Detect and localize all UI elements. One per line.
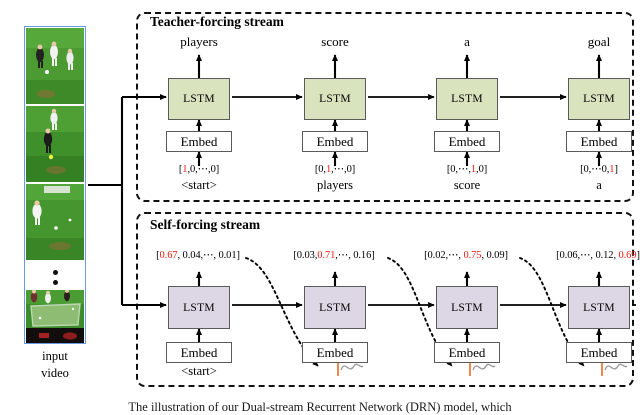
tf-input-word-4: a	[596, 178, 602, 193]
self-forcing-title: Self-forcing stream	[150, 217, 260, 233]
tf-lstm-cell-1: LSTM	[168, 78, 230, 120]
video-frame-4	[26, 290, 84, 343]
tf-input-word-2: players	[317, 178, 353, 193]
tf-lstm-label-3: LSTM	[451, 93, 483, 105]
tf-lstm-cell-4: LSTM	[568, 78, 630, 120]
sf-prob-vector-1: [0.67, 0.04,⋯, 0.01]	[156, 249, 240, 261]
tf-embed-box-2: Embed	[302, 131, 368, 152]
sf-embed-label-2: Embed	[317, 345, 354, 361]
tf-lstm-label-4: LSTM	[583, 93, 615, 105]
sf-lstm-cell-2: LSTM	[304, 286, 366, 329]
tf-embed-box-3: Embed	[434, 131, 500, 152]
video-frame-2	[26, 106, 84, 182]
sf-embed-label-1: Embed	[181, 345, 218, 361]
sf-lstm-cell-3: LSTM	[436, 286, 498, 329]
tf-embed-label-3: Embed	[449, 134, 486, 150]
tf-onehot-vector-3: [0,⋯,1,0]	[447, 163, 487, 175]
tf-lstm-cell-3: LSTM	[436, 78, 498, 120]
sf-input-word-1: <start>	[181, 364, 217, 379]
sf-embed-label-4: Embed	[581, 345, 618, 361]
tf-embed-label-1: Embed	[181, 134, 218, 150]
tf-lstm-label-1: LSTM	[183, 93, 215, 105]
figure-caption: The illustration of our Dual-stream Recu…	[128, 400, 511, 415]
sf-lstm-label-2: LSTM	[319, 302, 351, 314]
video-frame-1	[26, 28, 84, 104]
figure-dual-stream-diagram: input video Teacher-forcing stream Self-…	[0, 0, 640, 411]
tf-embed-box-4: Embed	[566, 131, 632, 152]
tf-output-word-3: a	[464, 34, 470, 50]
sf-embed-box-1: Embed	[166, 342, 232, 363]
tf-output-word-2: score	[321, 34, 348, 50]
tf-lstm-cell-2: LSTM	[304, 78, 366, 120]
sf-embed-label-3: Embed	[449, 345, 486, 361]
sf-embed-box-3: Embed	[434, 342, 500, 363]
sf-lstm-cell-1: LSTM	[168, 286, 230, 329]
tf-embed-label-2: Embed	[317, 134, 354, 150]
tf-input-word-1: <start>	[181, 178, 217, 193]
tf-embed-label-4: Embed	[581, 134, 618, 150]
tf-output-word-1: players	[180, 34, 218, 50]
sf-prob-vector-2: [0.03,0.71,⋯, 0.16]	[293, 249, 374, 261]
tf-onehot-vector-1: [1,0,⋯,0]	[179, 163, 219, 175]
sf-embed-box-4: Embed	[566, 342, 632, 363]
tf-onehot-vector-2: [0,1,⋯,0]	[315, 163, 355, 175]
tf-onehot-vector-4: [0,⋯0,1]	[580, 163, 618, 175]
sf-lstm-cell-4: LSTM	[568, 286, 630, 329]
sf-prob-vector-3: [0.02,⋯, 0.75, 0.09]	[424, 249, 508, 261]
sf-lstm-label-4: LSTM	[583, 302, 615, 314]
sf-lstm-label-1: LSTM	[183, 302, 215, 314]
teacher-forcing-title: Teacher-forcing stream	[150, 14, 284, 30]
sf-embed-box-2: Embed	[302, 342, 368, 363]
tf-lstm-label-2: LSTM	[319, 93, 351, 105]
sf-lstm-label-3: LSTM	[451, 302, 483, 314]
tf-input-word-3: score	[454, 178, 480, 193]
input-video-label-line2: video	[41, 366, 69, 381]
tf-embed-box-1: Embed	[166, 131, 232, 152]
tf-output-word-4: goal	[588, 34, 610, 50]
video-frame-3	[26, 184, 84, 260]
input-video-label-line1: input	[42, 349, 68, 364]
sf-prob-vector-4: [0.06,⋯, 0.12, 0.69]	[556, 249, 640, 261]
input-video-strip	[24, 26, 86, 344]
